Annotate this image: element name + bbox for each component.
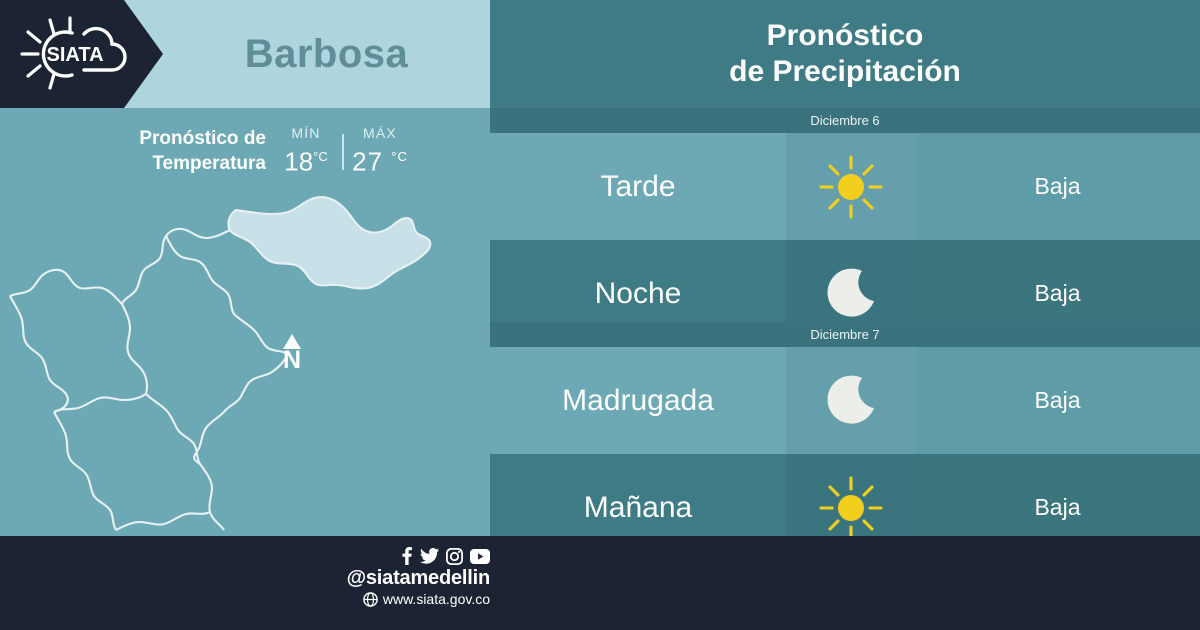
infographic-root: SIATA Barbosa Pronóstico de Temperatura …: [0, 0, 1200, 630]
temperature-title-line2: Temperatura: [88, 151, 266, 176]
sun-icon: [786, 133, 915, 240]
period-label: Madrugada: [490, 347, 786, 454]
temperature-max-value: 27 °C: [351, 142, 409, 177]
temperature-max-label: MÁX: [351, 124, 409, 142]
date-header-day1: Diciembre 6: [490, 108, 1200, 133]
sun-cloud-icon: SIATA: [14, 14, 136, 94]
temperature-summary: Pronóstico de Temperatura MÍN 18°C MÁX 2…: [88, 124, 418, 186]
temperature-min-label: MÍN: [277, 124, 335, 142]
moon-icon-svg: [824, 374, 878, 428]
twitter-icon[interactable]: [420, 548, 439, 564]
probability-label: Baja: [915, 347, 1200, 454]
temperature-values: MÍN 18°C MÁX 27 °C: [266, 124, 409, 177]
globe-icon: [363, 592, 378, 607]
date-header-day2: Diciembre 7: [490, 322, 1200, 347]
instagram-icon[interactable]: [446, 548, 463, 565]
temperature-min: MÍN 18°C: [277, 124, 335, 177]
precipitation-title-line2: de Precipitación: [729, 54, 961, 90]
temperature-max: MÁX 27 °C: [351, 124, 409, 177]
website-line[interactable]: www.siata.gov.co: [330, 590, 490, 609]
city-header: SIATA Barbosa: [0, 0, 490, 108]
temperature-divider: [342, 134, 344, 170]
website-text: www.siata.gov.co: [383, 590, 490, 609]
city-title: Barbosa: [163, 0, 490, 108]
compass-north: N: [272, 334, 312, 382]
precipitation-title-line1: Pronóstico: [767, 18, 924, 54]
precipitation-panel: Pronóstico de Precipitación Diciembre 6 …: [490, 0, 1200, 536]
sun-icon-svg: [818, 475, 884, 541]
period-label: Tarde: [490, 133, 786, 240]
social-icons: [330, 546, 490, 566]
facebook-icon[interactable]: [401, 547, 413, 565]
temperature-min-value: 18°C: [277, 142, 335, 177]
temperature-title-line1: Pronóstico de: [88, 126, 266, 151]
svg-text:SIATA: SIATA: [46, 44, 103, 66]
sun-icon-svg: [818, 154, 884, 220]
social-handle[interactable]: @siatamedellin: [330, 566, 490, 590]
social-block: @siatamedellin www.siata.gov.co: [330, 546, 490, 609]
footer: @siatamedellin www.siata.gov.co Con el a…: [0, 536, 1200, 630]
forecast-row: Madrugada Baja: [490, 347, 1200, 454]
compass-label: N: [283, 348, 301, 373]
moon-icon: [786, 347, 915, 454]
temperature-title: Pronóstico de Temperatura: [88, 124, 266, 176]
youtube-icon[interactable]: [470, 549, 490, 564]
map-svg: [0, 186, 490, 536]
municipality-map: N: [0, 186, 490, 536]
forecast-row: Tarde Baja: [490, 133, 1200, 240]
siata-logo: SIATA: [14, 14, 136, 94]
precipitation-title: Pronóstico de Precipitación: [490, 0, 1200, 108]
probability-label: Baja: [915, 133, 1200, 240]
moon-icon-svg: [824, 267, 878, 321]
temperature-panel: SIATA Barbosa Pronóstico de Temperatura …: [0, 0, 490, 536]
